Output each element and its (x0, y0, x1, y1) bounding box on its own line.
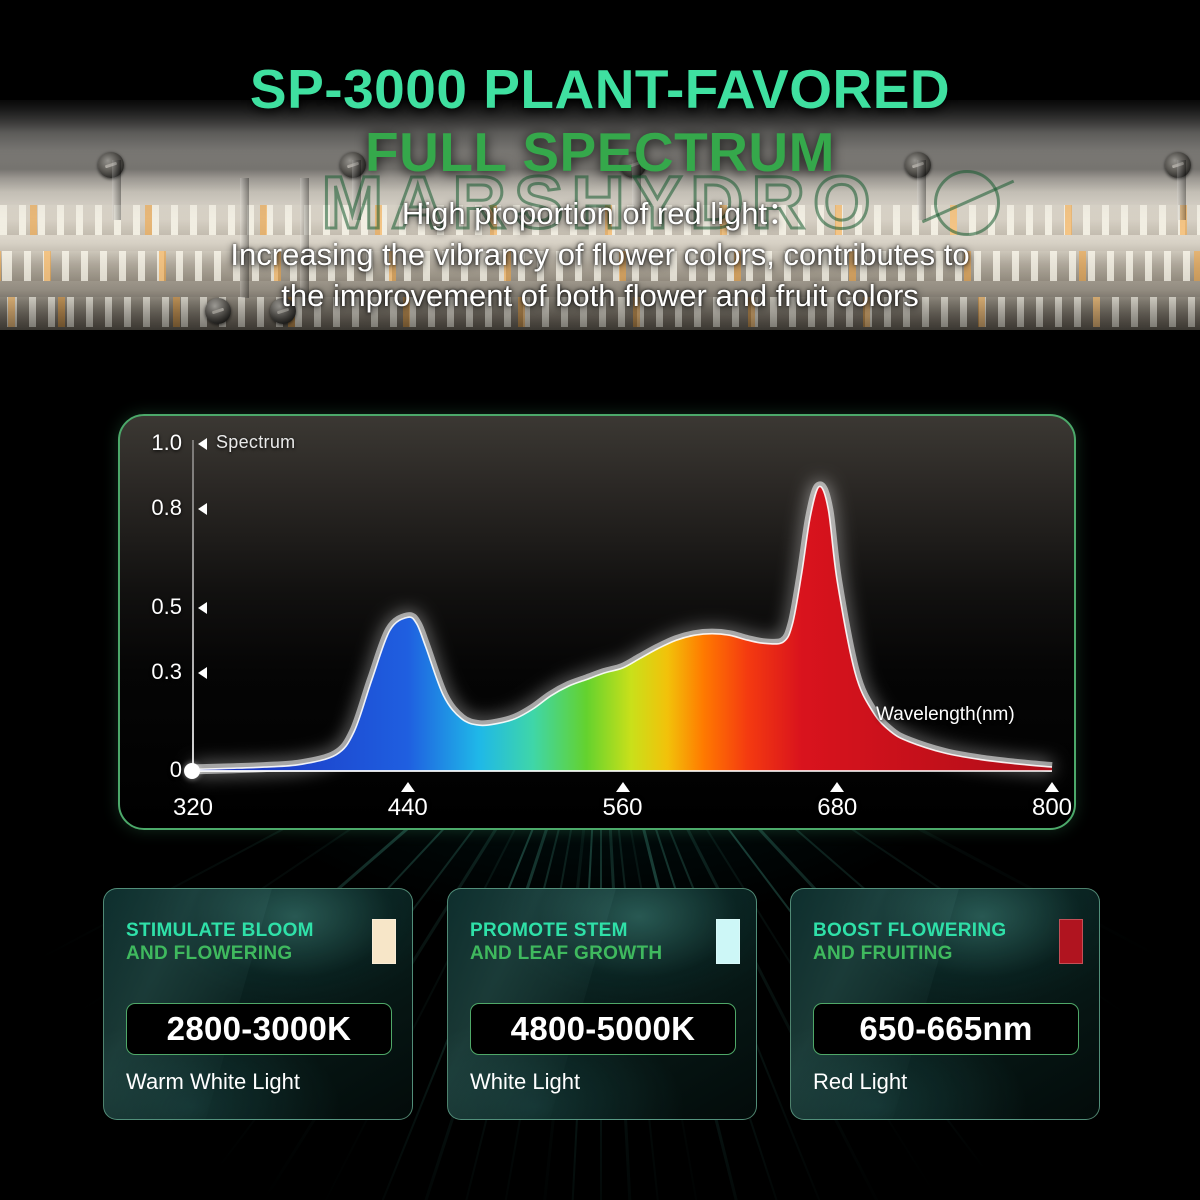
chart-inner: 00.30.50.81.0 320440560680800 Spectrum W… (120, 416, 1074, 828)
x-axis-tick-label: 560 (602, 794, 642, 822)
card-value: 4800-5000K (511, 1010, 696, 1048)
subtitle-line1: High proportion of red light： (0, 194, 1200, 235)
y-axis-tick-marker (198, 438, 207, 450)
header-block: SP-3000 PLANT-FAVORED FULL SPECTRUM High… (0, 0, 1200, 317)
spectrum-chart-panel: 00.30.50.81.0 320440560680800 Spectrum W… (118, 414, 1076, 830)
x-axis-tick-label: 800 (1032, 794, 1072, 822)
y-axis-tick-label: 0.5 (120, 594, 182, 620)
x-axis-tick-marker (616, 782, 630, 792)
x-axis-tick-label: 320 (173, 794, 213, 822)
color-swatch (716, 919, 740, 964)
feature-card[interactable]: STIMULATE BLOOMAND FLOWERING2800-3000KWa… (103, 888, 413, 1120)
card-title-line1: PROMOTE STEM (470, 919, 700, 942)
spectrum-curve (120, 416, 1076, 830)
y-axis-tick-label: 0.3 (120, 659, 182, 685)
x-axis-tick-marker (1045, 782, 1059, 792)
subtitle-line3: the improvement of both flower and fruit… (0, 276, 1200, 317)
y-axis-tick-marker (198, 667, 207, 679)
card-title-line2: AND FRUITING (813, 942, 1043, 965)
x-axis-tick-label: 680 (817, 794, 857, 822)
origin-dot (184, 763, 200, 779)
card-title-line1: BOOST FLOWERING (813, 919, 1043, 942)
card-title: STIMULATE BLOOMAND FLOWERING (126, 919, 356, 965)
color-swatch (1059, 919, 1083, 964)
value-box: 2800-3000K (126, 1003, 392, 1055)
y-axis-tick-marker (198, 602, 207, 614)
feature-card-row: STIMULATE BLOOMAND FLOWERING2800-3000KWa… (0, 888, 1200, 1120)
y-axis-tick-label: 1.0 (120, 430, 182, 456)
x-axis-tick-marker (830, 782, 844, 792)
promo-graphic: MARSHYDRO SP-3000 PLANT-FAVORED FULL SPE… (0, 0, 1200, 1200)
y-axis (192, 440, 194, 772)
card-value: 2800-3000K (167, 1010, 352, 1048)
value-box: 650-665nm (813, 1003, 1079, 1055)
y-axis-tick-label: 0.8 (120, 495, 182, 521)
card-title: PROMOTE STEMAND LEAF GROWTH (470, 919, 700, 965)
feature-card[interactable]: BOOST FLOWERINGAND FRUITING650-665nmRed … (790, 888, 1100, 1120)
page-title-line1: SP-3000 PLANT-FAVORED (0, 62, 1200, 117)
x-axis-tick-label: 440 (388, 794, 428, 822)
x-axis-tick-marker (401, 782, 415, 792)
card-title-line2: AND FLOWERING (126, 942, 356, 965)
card-title: BOOST FLOWERINGAND FRUITING (813, 919, 1043, 965)
color-swatch (372, 919, 396, 964)
subtitle-line2: Increasing the vibrancy of flower colors… (0, 235, 1200, 276)
value-box: 4800-5000K (470, 1003, 736, 1055)
y-axis-tick-label: 0 (120, 757, 182, 783)
feature-card[interactable]: PROMOTE STEMAND LEAF GROWTH4800-5000KWhi… (447, 888, 757, 1120)
page-title-line2: FULL SPECTRUM (0, 125, 1200, 180)
y-axis-tick-marker (198, 503, 207, 515)
x-axis-label: Wavelength(nm) (876, 704, 1015, 726)
card-title-line1: STIMULATE BLOOM (126, 919, 356, 942)
card-value: 650-665nm (859, 1010, 1032, 1048)
card-footer-label: Warm White Light (126, 1069, 300, 1095)
spectrum-legend-label: Spectrum (216, 432, 295, 453)
x-axis (192, 770, 1052, 772)
card-footer-label: Red Light (813, 1069, 907, 1095)
card-footer-label: White Light (470, 1069, 580, 1095)
card-title-line2: AND LEAF GROWTH (470, 942, 700, 965)
